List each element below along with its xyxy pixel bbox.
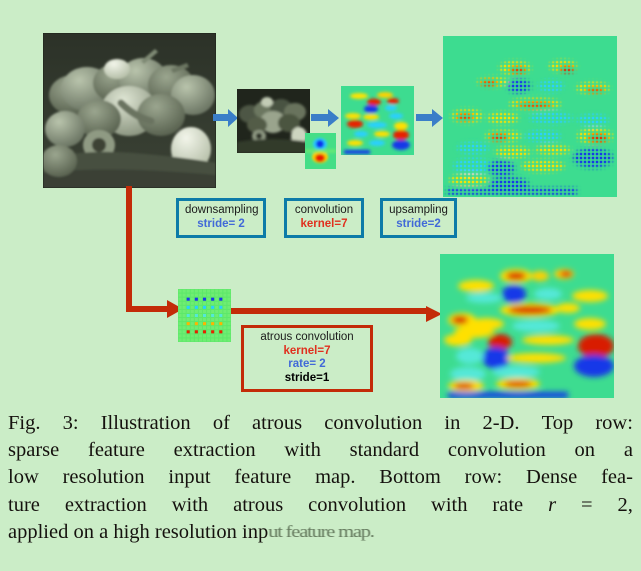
panel-dense-output — [440, 254, 614, 398]
caption-math-rate-var: r — [548, 492, 556, 519]
figure-diagram: downsampling stride= 2 convolution kerne… — [0, 0, 641, 404]
atrous-stride-param: stride=1 — [250, 372, 364, 386]
panel-downsampled-image — [237, 89, 310, 153]
panel-sparse-feature-map — [341, 86, 414, 155]
figure-caption: Fig.3:Illustrationofatrousconvolutionin2… — [0, 404, 641, 571]
label-box-convolution: convolution kernel=7 — [284, 198, 364, 238]
caption-line-5: applied on a high resolution input featu… — [8, 519, 633, 546]
label-box-upsampling: upsampling stride=2 — [380, 198, 457, 238]
label-box-atrous-convolution: atrous convolution kernel=7 rate= 2 stri… — [241, 325, 373, 392]
caption-line-2: sparsefeatureextractionwithstandardconvo… — [8, 437, 633, 464]
downsampling-title: downsampling — [185, 204, 257, 218]
upsampling-param: stride=2 — [389, 218, 448, 232]
convolution-param: kernel=7 — [293, 218, 355, 232]
panel-atrous-kernel — [178, 289, 231, 342]
caption-line-4: tureextractionwithatrousconvolutionwithr… — [8, 492, 633, 519]
arrow-downsample — [213, 107, 239, 129]
caption-math-rate-value: 2, — [618, 492, 633, 519]
caption-line-3: lowresolutioninputfeaturemap.Bottomrow:D… — [8, 464, 633, 491]
label-box-downsampling: downsampling stride= 2 — [176, 198, 266, 238]
arrow-atrous-output — [231, 306, 443, 322]
caption-line-1: Fig.3:Illustrationofatrousconvolutionin2… — [8, 410, 633, 437]
arrow-convolution — [311, 107, 340, 129]
caption-line-5-occluded: ut feature map. — [268, 521, 374, 543]
upsampling-title: upsampling — [389, 204, 448, 218]
convolution-title: convolution — [293, 204, 355, 218]
panel-standard-kernel — [305, 133, 336, 169]
arrow-upsample — [416, 107, 444, 129]
downsampling-param: stride= 2 — [185, 218, 257, 232]
atrous-rate-param: rate= 2 — [250, 358, 364, 372]
caption-math-equals: = — [581, 492, 593, 519]
panel-sparse-upsampled-output — [443, 36, 617, 197]
atrous-title: atrous convolution — [250, 331, 364, 345]
panel-source-image — [43, 33, 216, 188]
atrous-kernel-param: kernel=7 — [250, 345, 364, 359]
caption-line-5-visible: applied on a high resolution inp — [8, 521, 268, 543]
